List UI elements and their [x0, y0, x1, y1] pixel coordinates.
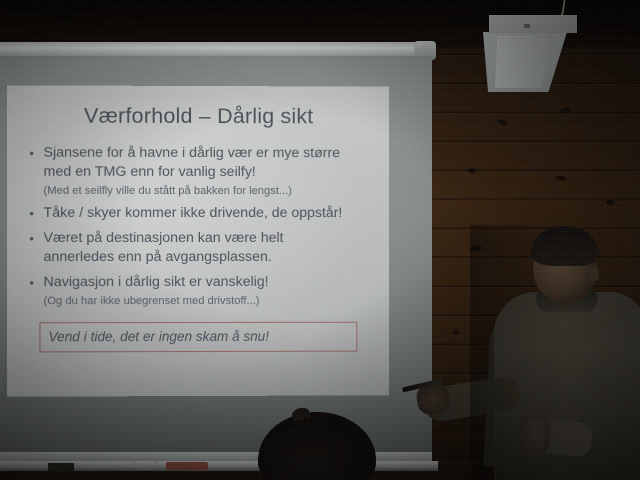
- room-vignette: [0, 0, 640, 480]
- presentation-room-photo: Værforhold – Dårlig sikt • Sjansene for …: [0, 0, 640, 480]
